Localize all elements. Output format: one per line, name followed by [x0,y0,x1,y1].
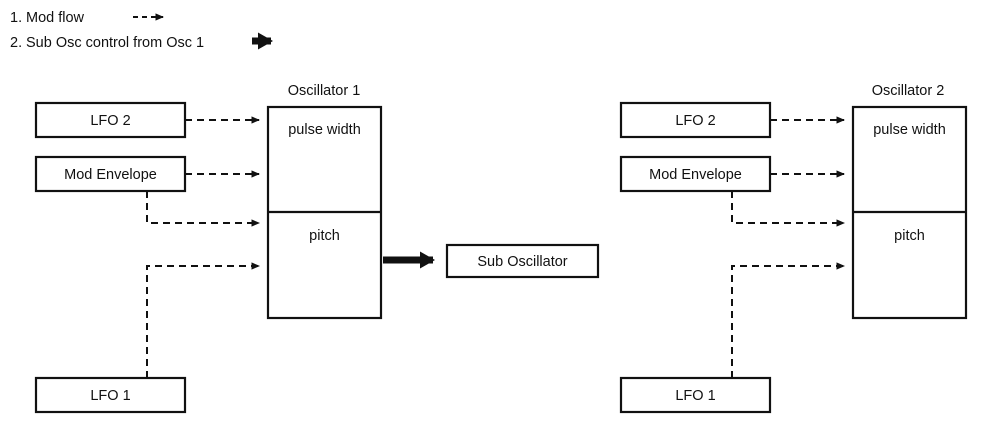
source-box-lfo1-osc2[interactable]: LFO 1 [621,378,770,412]
routing-diagram-canvas: 1. Mod flow 2. Sub Osc control from Osc … [0,0,981,427]
sub-oscillator-label: Sub Oscillator [477,254,567,270]
source-box-lfo2-osc2[interactable]: LFO 2 [621,103,770,137]
oscillator-2-box[interactable]: pulse width pitch [853,107,966,318]
diagram-root: 1. Mod flow 2. Sub Osc control from Osc … [0,0,981,427]
slot-label-pulse-width: pulse width [873,122,946,138]
legend-item-2: 2. Sub Osc control from Osc 1 [10,35,271,51]
sub-oscillator-box[interactable]: Sub Oscillator [447,245,598,277]
source-box-lfo2-osc1[interactable]: LFO 2 [36,103,185,137]
legend-item-2-number: 2. [10,35,22,51]
slot-label-pitch: pitch [894,228,925,244]
source-box-lfo1-osc1[interactable]: LFO 1 [36,378,185,412]
source-box-mod-envelope-osc2[interactable]: Mod Envelope [621,157,770,191]
connection-mod-envelope-to-pitch [147,191,259,223]
legend-item-1-number: 1. [10,10,22,26]
legend: 1. Mod flow 2. Sub Osc control from Osc … [10,10,271,51]
connection-mod-envelope-to-pitch [732,191,844,223]
source-box-mod-envelope-osc1[interactable]: Mod Envelope [36,157,185,191]
group-osc1: LFO 2 Mod Envelope LFO 1 Oscillator 1 pu… [36,83,433,412]
oscillator-2-title: Oscillator 2 [872,83,945,99]
source-box-label: LFO 2 [675,113,715,129]
group-osc2: LFO 2 Mod Envelope LFO 1 Oscillator 2 pu… [621,83,966,412]
source-box-label: LFO 1 [90,388,130,404]
oscillator-1-box[interactable]: pulse width pitch [268,107,381,318]
connection-lfo1-to-pitch [732,266,844,378]
legend-item-2-label: Sub Osc control from Osc 1 [26,35,204,51]
slot-label-pulse-width: pulse width [288,122,361,138]
source-box-label: Mod Envelope [64,167,157,183]
source-box-label: Mod Envelope [649,167,742,183]
source-box-label: LFO 2 [90,113,130,129]
connection-lfo1-to-pitch [147,266,259,378]
oscillator-1-title: Oscillator 1 [288,83,361,99]
source-box-label: LFO 1 [675,388,715,404]
legend-item-1: 1. Mod flow [10,10,163,26]
slot-label-pitch: pitch [309,228,340,244]
legend-item-1-label: Mod flow [26,10,85,26]
